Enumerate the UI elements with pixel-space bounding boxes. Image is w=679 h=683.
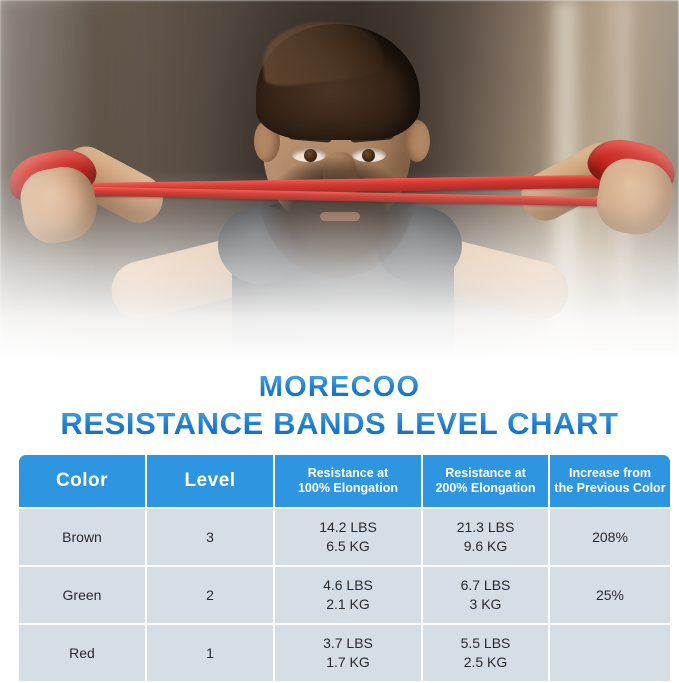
column-header-increase: Increase from the Previous Color — [550, 455, 670, 507]
resistance-level-table: Color Level Resistance at 100% Elongatio… — [17, 453, 672, 683]
cell-resistance-200-lbs: 6.7 LBS — [425, 576, 546, 595]
cell-resistance-100-kg: 2.1 KG — [277, 595, 419, 614]
cell-color: Brown — [19, 509, 145, 565]
photo-white-fade — [0, 170, 679, 370]
table-row: Brown 3 14.2 LBS 6.5 KG 21.3 LBS 9.6 KG … — [19, 509, 670, 565]
cell-resistance-100-kg: 6.5 KG — [277, 537, 419, 556]
column-header-resistance-200-line1: Resistance at — [445, 466, 526, 480]
column-header-resistance-100-line1: Resistance at — [308, 466, 389, 480]
table-row: Green 2 4.6 LBS 2.1 KG 6.7 LBS 3 KG 25% — [19, 567, 670, 623]
column-header-increase-line1: Increase from — [569, 466, 651, 480]
column-header-increase-line2: the Previous Color — [554, 481, 665, 495]
cell-resistance-100: 3.7 LBS 1.7 KG — [275, 625, 421, 681]
brand-name: MORECOO — [0, 372, 679, 404]
cell-resistance-100-lbs: 3.7 LBS — [277, 634, 419, 653]
cell-resistance-100: 4.6 LBS 2.1 KG — [275, 567, 421, 623]
cell-resistance-100-lbs: 14.2 LBS — [277, 518, 419, 537]
column-header-resistance-200: Resistance at 200% Elongation — [423, 455, 548, 507]
cell-resistance-100-lbs: 4.6 LBS — [277, 576, 419, 595]
cell-resistance-200: 6.7 LBS 3 KG — [423, 567, 548, 623]
cell-resistance-100: 14.2 LBS 6.5 KG — [275, 509, 421, 565]
table-header-row: Color Level Resistance at 100% Elongatio… — [19, 455, 670, 507]
table-row: Red 1 3.7 LBS 1.7 KG 5.5 LBS 2.5 KG — [19, 625, 670, 681]
cell-increase — [550, 625, 670, 681]
cell-level: 1 — [147, 625, 273, 681]
table-header: Color Level Resistance at 100% Elongatio… — [19, 455, 670, 507]
cell-resistance-200-kg: 2.5 KG — [425, 653, 546, 672]
hero-image — [0, 0, 679, 370]
cell-resistance-100-kg: 1.7 KG — [277, 653, 419, 672]
cell-resistance-200-kg: 9.6 KG — [425, 537, 546, 556]
cell-resistance-200-lbs: 21.3 LBS — [425, 518, 546, 537]
cell-resistance-200-lbs: 5.5 LBS — [425, 634, 546, 653]
cell-resistance-200: 5.5 LBS 2.5 KG — [423, 625, 548, 681]
column-header-level: Level — [147, 455, 273, 507]
cell-color: Green — [19, 567, 145, 623]
column-header-color: Color — [19, 455, 145, 507]
column-header-resistance-100-line2: 100% Elongation — [298, 481, 398, 495]
cell-resistance-200-kg: 3 KG — [425, 595, 546, 614]
cell-color: Red — [19, 625, 145, 681]
cell-level: 3 — [147, 509, 273, 565]
page-title: RESISTANCE BANDS LEVEL CHART — [0, 406, 679, 442]
table-body: Brown 3 14.2 LBS 6.5 KG 21.3 LBS 9.6 KG … — [19, 509, 670, 681]
column-header-resistance-200-line2: 200% Elongation — [435, 481, 535, 495]
cell-increase: 208% — [550, 509, 670, 565]
cell-increase: 25% — [550, 567, 670, 623]
column-header-resistance-100: Resistance at 100% Elongation — [275, 455, 421, 507]
cell-level: 2 — [147, 567, 273, 623]
athlete-photo — [0, 0, 679, 370]
chart-heading: MORECOO RESISTANCE BANDS LEVEL CHART — [0, 372, 679, 442]
cell-resistance-200: 21.3 LBS 9.6 KG — [423, 509, 548, 565]
